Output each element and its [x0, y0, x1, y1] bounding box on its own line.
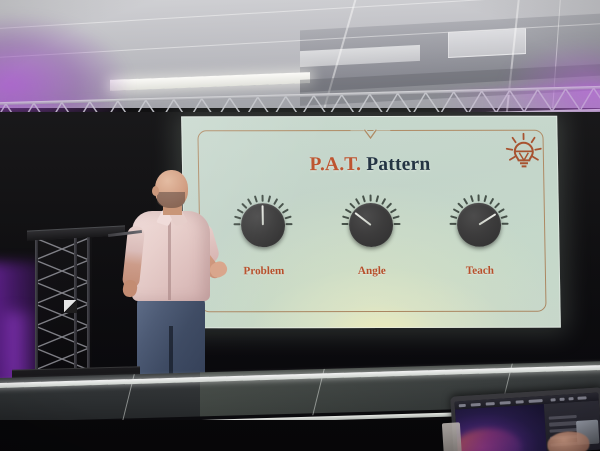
- status-icon[interactable]: [550, 398, 555, 401]
- stage-photo-scene: P.A.T. Pattern: [0, 0, 600, 451]
- clock[interactable]: [577, 396, 586, 400]
- menu-item[interactable]: [486, 402, 495, 406]
- menu-item[interactable]: [516, 400, 524, 403]
- menu-item[interactable]: [500, 401, 511, 405]
- truss-lectern: [30, 228, 122, 380]
- lectern-badge: [64, 300, 77, 313]
- laptop-wallpaper-arc: [455, 426, 524, 451]
- lectern-post-left: [35, 236, 38, 378]
- foreground-object: [442, 422, 462, 451]
- laptop-panel-row: [548, 414, 577, 419]
- projection-screen: P.A.T. Pattern: [181, 116, 561, 329]
- purple-light-wash-left: [0, 14, 130, 109]
- laptop-wallpaper: [455, 404, 548, 451]
- presenter-shirt-placket: [168, 220, 171, 300]
- presenter: [108, 168, 226, 394]
- lectern-bracing: [35, 238, 89, 378]
- lectern-post-right: [87, 236, 90, 378]
- menu-item[interactable]: [471, 403, 481, 407]
- status-icon[interactable]: [568, 397, 573, 400]
- presenter-ear: [152, 186, 159, 196]
- laptop-panel-row: [549, 421, 578, 426]
- menu-item[interactable]: [459, 403, 466, 406]
- presenter-laptop[interactable]: [450, 387, 600, 451]
- status-icon[interactable]: [559, 397, 564, 400]
- presenter-shirt: [132, 211, 210, 301]
- ceiling-light-strip: [110, 72, 310, 91]
- menu-item[interactable]: [529, 399, 543, 403]
- presenter-beard: [157, 192, 185, 208]
- screen-edge: [181, 116, 561, 329]
